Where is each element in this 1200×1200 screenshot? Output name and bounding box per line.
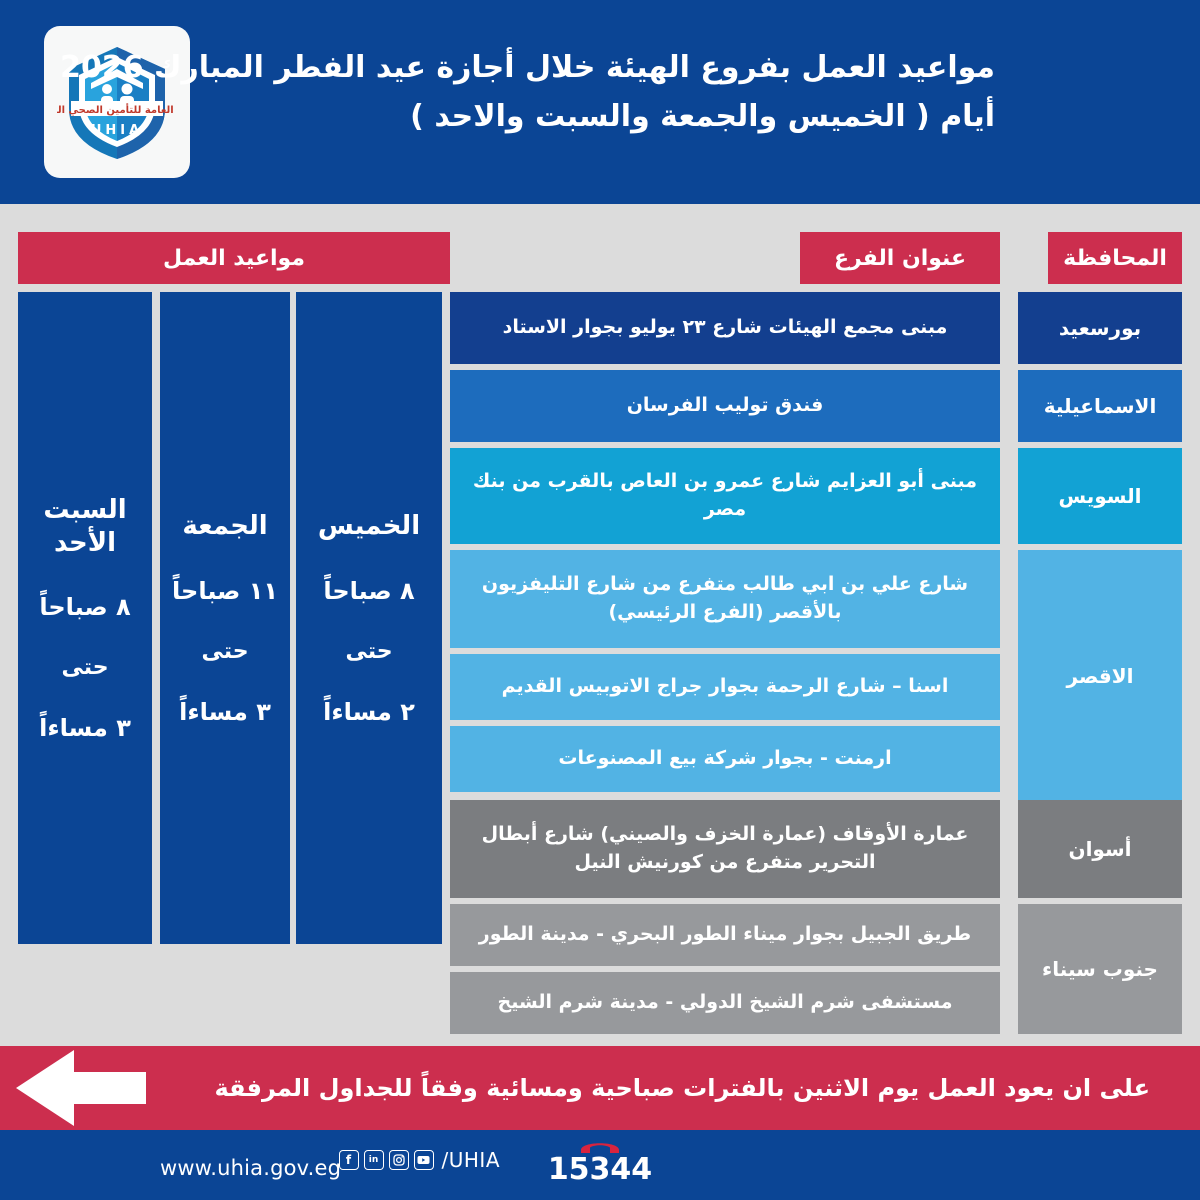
day-from-saturday-sunday: ٨ صباحاً <box>39 593 130 621</box>
governorate-cell: جنوب سيناء <box>1018 904 1182 1034</box>
notice-banner-text: على ان يعود العمل يوم الاثنين بالفترات ص… <box>214 1074 1150 1102</box>
column-header-working-hours: مواعيد العمل <box>18 232 450 284</box>
logo-acronym-text: UHIA <box>91 123 143 138</box>
branch-address-cell: فندق توليب الفرسان <box>450 370 1000 442</box>
governorate-cell: أسوان <box>1018 800 1182 898</box>
day-until-friday: حتى <box>201 639 248 664</box>
schedule-table: مواعيد العمل عنوان الفرع المحافظة الخميس… <box>0 204 1200 1040</box>
day-name-saturday: السبت <box>43 494 126 527</box>
branch-address-cell: عمارة الأوقاف (عمارة الخزف والصيني) شارع… <box>450 800 1000 898</box>
day-column-saturday-sunday: السبت الأحد ٨ صباحاً حتى ٣ مساءاً <box>18 292 152 944</box>
governorate-cell: الاقصر <box>1018 550 1182 802</box>
day-name-friday: الجمعة <box>182 510 267 543</box>
page-header: الهيئة العامة للتأمين الصحي الشامل UHIA … <box>0 0 1200 204</box>
page-title-line-1: مواعيد العمل بفروع الهيئة خلال أجازة عيد… <box>205 44 995 93</box>
logo-arabic-text: الهيئة العامة للتأمين الصحي الشامل <box>57 103 177 116</box>
column-header-branch-address: عنوان الفرع <box>800 232 1000 284</box>
governorate-cell: السويس <box>1018 448 1182 544</box>
day-until-thursday: حتى <box>345 639 392 664</box>
poster-root: الهيئة العامة للتأمين الصحي الشامل UHIA … <box>0 0 1200 1200</box>
notice-banner: على ان يعود العمل يوم الاثنين بالفترات ص… <box>0 1046 1200 1130</box>
header-title-block: مواعيد العمل بفروع الهيئة خلال أجازة عيد… <box>205 44 995 141</box>
day-name-thursday: الخميس <box>318 510 420 543</box>
day-name-saturday-sunday: السبت الأحد <box>43 494 126 559</box>
branch-address-cell: شارع علي بن ابي طالب متفرع من شارع التلي… <box>450 550 1000 648</box>
footer-bar: f in /UHIA 15344 www.uhia.gov.eg <box>0 1130 1200 1200</box>
arrow-right-icon <box>16 1050 146 1126</box>
day-column-friday: الجمعة ١١ صباحاً حتى ٣ مساءاً <box>160 292 290 944</box>
day-until-saturday-sunday: حتى <box>61 655 108 680</box>
branch-address-cell: ارمنت - بجوار شركة بيع المصنوعات <box>450 726 1000 792</box>
governorate-cell: الاسماعيلية <box>1018 370 1182 442</box>
website-url[interactable]: www.uhia.gov.eg <box>160 1156 341 1180</box>
branch-address-cell: مبنى أبو العزايم شارع عمرو بن العاص بالق… <box>450 448 1000 544</box>
day-from-friday: ١١ صباحاً <box>172 577 278 605</box>
column-header-governorate: المحافظة <box>1048 232 1182 284</box>
day-to-saturday-sunday: ٣ مساءاً <box>39 714 131 742</box>
day-to-thursday: ٢ مساءاً <box>323 698 415 726</box>
branch-address-cell: اسنا – شارع الرحمة بجوار جراج الاتوبيس ا… <box>450 654 1000 720</box>
branch-address-cell: طريق الجبيل بجوار ميناء الطور البحري - م… <box>450 904 1000 966</box>
branch-address-cell: مبنى مجمع الهيئات شارع ٢٣ يوليو بجوار ال… <box>450 292 1000 364</box>
day-to-friday: ٣ مساءاً <box>179 698 271 726</box>
day-from-thursday: ٨ صباحاً <box>323 577 414 605</box>
branch-address-cell: مستشفى شرم الشيخ الدولي - مدينة شرم الشي… <box>450 972 1000 1034</box>
day-name-sunday: الأحد <box>43 527 126 560</box>
day-column-thursday: الخميس ٨ صباحاً حتى ٢ مساءاً <box>296 292 442 944</box>
page-title-line-2: أيام ( الخميس والجمعة والسبت والاحد ) <box>205 93 995 142</box>
column-header-working-hours-label: مواعيد العمل <box>18 246 450 271</box>
governorate-cell: بورسعيد <box>1018 292 1182 364</box>
